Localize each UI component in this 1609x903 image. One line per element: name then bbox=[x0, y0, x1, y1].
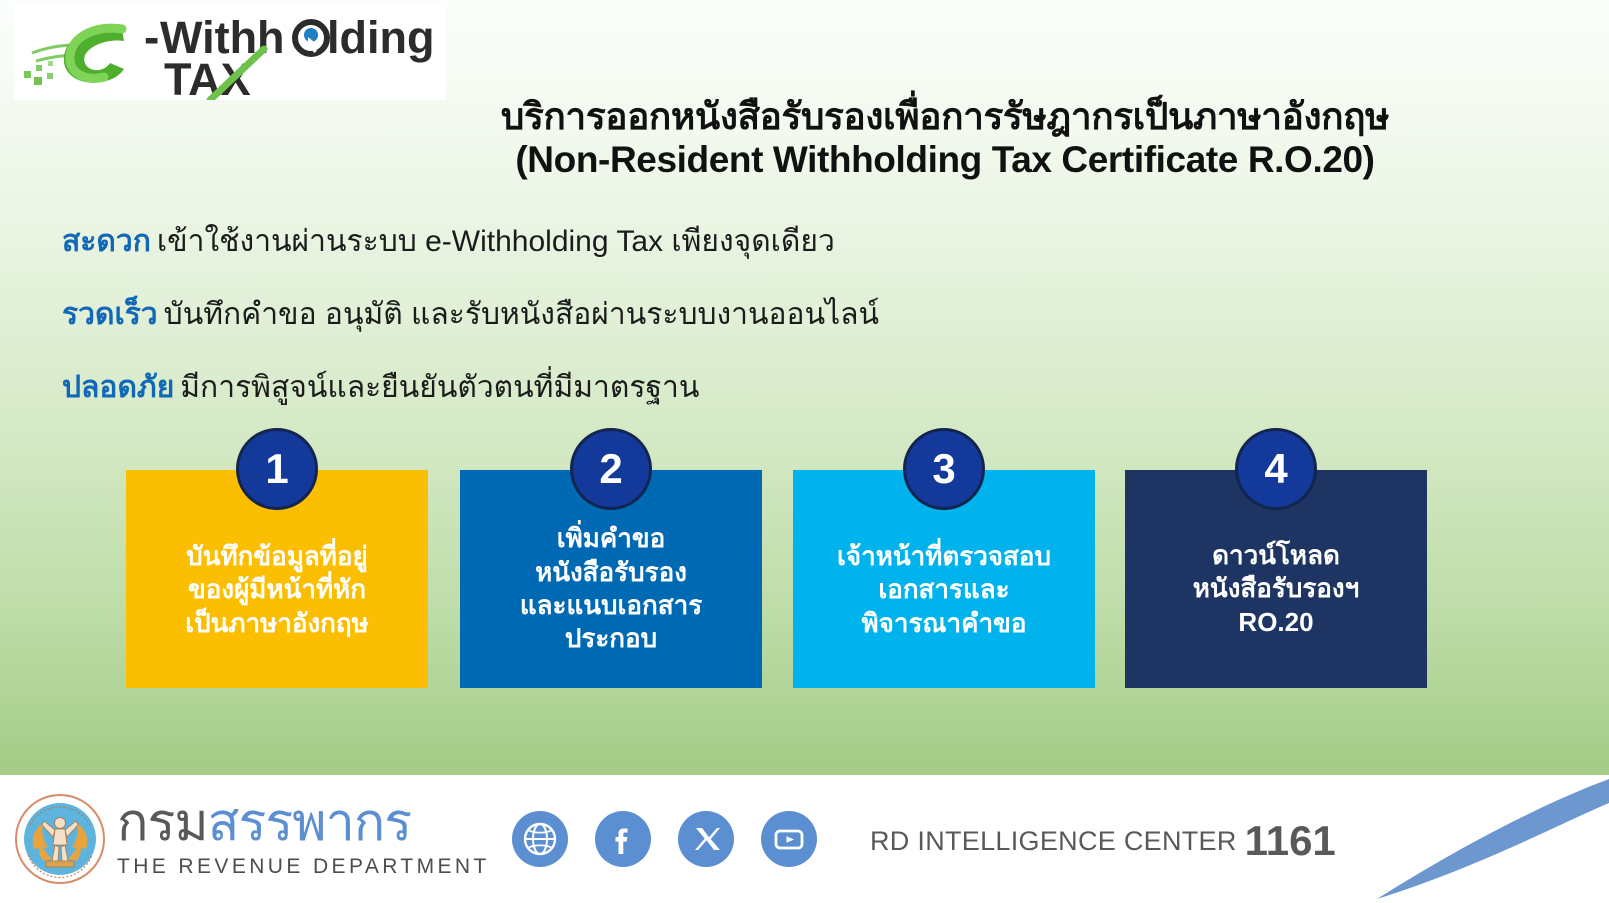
step-text-1: บันทึกข้อมูลที่อยู่ ของผู้มีหน้าที่หัก เ… bbox=[177, 540, 377, 640]
facebook-icon[interactable] bbox=[595, 811, 651, 867]
step-line: และแนบเอกสาร bbox=[520, 589, 702, 622]
revenue-department-wordmark: กรมสรรพากร THE REVENUE DEPARTMENT bbox=[117, 797, 490, 879]
rd-center-label: RD INTELLIGENCE CENTER bbox=[870, 826, 1237, 856]
benefit-item-secure: ปลอดภัยมีการพิสูจน์และยืนยันตัวตนที่มีมา… bbox=[62, 364, 1262, 411]
step-line: หนังสือรับรอง bbox=[520, 556, 702, 589]
step-text-2: เพิ่มคำขอ หนังสือรับรอง และแนบเอกสาร ประ… bbox=[512, 522, 710, 655]
benefit-keyword: สะดวก bbox=[62, 225, 151, 258]
step-line: ดาวน์โหลด bbox=[1193, 539, 1359, 572]
step-line: ประกอบ bbox=[520, 622, 702, 655]
step-line: เพิ่มคำขอ bbox=[520, 522, 702, 555]
footer-bar: กรมสรรพากร THE REVENUE DEPARTMENT bbox=[0, 775, 1609, 903]
swoosh-decoration-icon bbox=[1329, 775, 1609, 903]
step-number-badge-1: 1 bbox=[236, 428, 318, 510]
step-card-4: 4 ดาวน์โหลด หนังสือรับรองฯ RO.20 bbox=[1125, 470, 1427, 688]
step-number-badge-4: 4 bbox=[1235, 428, 1317, 510]
step-text-4: ดาวน์โหลด หนังสือรับรองฯ RO.20 bbox=[1185, 539, 1367, 639]
rd-center-number: 1161 bbox=[1245, 817, 1336, 864]
step-line: พิจารณาคำขอ bbox=[837, 607, 1051, 640]
step-card-3: 3 เจ้าหน้าที่ตรวจสอบ เอกสารและ พิจารณาคำ… bbox=[793, 470, 1095, 688]
benefit-item-fast: รวดเร็วบันทึกคำขอ อนุมัติ และรับหนังสือผ… bbox=[62, 291, 1262, 338]
step-text-3: เจ้าหน้าที่ตรวจสอบ เอกสารและ พิจารณาคำขอ bbox=[829, 540, 1059, 640]
benefit-list: สะดวกเข้าใช้งานผ่านระบบ e-Withholding Ta… bbox=[62, 218, 1262, 437]
ewht-logo-svg: - Withh lding TAX bbox=[14, 5, 446, 100]
step-line: RO.20 bbox=[1193, 606, 1359, 639]
step-card-1: 1 บันทึกข้อมูลที่อยู่ ของผู้มีหน้าที่หัก… bbox=[126, 470, 428, 688]
step-line: เอกสารและ bbox=[837, 573, 1051, 606]
svg-text:lding: lding bbox=[327, 12, 434, 63]
step-line: บันทึกข้อมูลที่อยู่ bbox=[185, 540, 369, 573]
benefit-description: เข้าใช้งานผ่านระบบ e-Withholding Tax เพี… bbox=[157, 225, 835, 258]
social-links bbox=[512, 811, 817, 867]
x-twitter-icon[interactable] bbox=[678, 811, 734, 867]
poster-root: - Withh lding TAX บริการออกหนังสือรับรอง… bbox=[0, 0, 1609, 903]
page-title-thai: บริการออกหนังสือรับรองเพื่อการรัษฎากรเป็… bbox=[300, 96, 1590, 139]
organization-name-thai: กรมสรรพากร bbox=[117, 797, 490, 849]
benefit-keyword: รวดเร็ว bbox=[62, 298, 158, 331]
globe-icon-svg bbox=[521, 820, 559, 858]
benefit-description: มีการพิสูจน์และยืนยันตัวตนที่มีมาตรฐาน bbox=[180, 371, 699, 404]
youtube-icon[interactable] bbox=[761, 811, 817, 867]
facebook-icon-svg bbox=[604, 820, 642, 858]
org-name-thai-suffix: สรรพากร bbox=[208, 794, 412, 852]
page-title: บริการออกหนังสือรับรองเพื่อการรัษฎากรเป็… bbox=[300, 96, 1590, 182]
step-number-badge-3: 3 bbox=[903, 428, 985, 510]
rd-intelligence-center: RD INTELLIGENCE CENTER1161 bbox=[870, 817, 1336, 865]
benefit-description: บันทึกคำขอ อนุมัติ และรับหนังสือผ่านระบบ… bbox=[164, 298, 879, 331]
ewht-logo: - Withh lding TAX bbox=[14, 5, 446, 100]
organization-name-english: THE REVENUE DEPARTMENT bbox=[117, 855, 490, 879]
x-twitter-icon-svg bbox=[689, 822, 723, 856]
revenue-department-seal-icon bbox=[14, 793, 106, 885]
benefit-keyword: ปลอดภัย bbox=[62, 371, 174, 404]
page-title-english: (Non-Resident Withholding Tax Certificat… bbox=[300, 139, 1590, 182]
process-steps: 1 บันทึกข้อมูลที่อยู่ ของผู้มีหน้าที่หัก… bbox=[126, 428, 1426, 688]
step-line: ของผู้มีหน้าที่หัก bbox=[185, 573, 369, 606]
step-line: เจ้าหน้าที่ตรวจสอบ bbox=[837, 540, 1051, 573]
globe-icon[interactable] bbox=[512, 811, 568, 867]
org-name-thai-prefix: กรม bbox=[117, 794, 208, 852]
step-number-badge-2: 2 bbox=[570, 428, 652, 510]
svg-text:-: - bbox=[144, 11, 159, 63]
step-line: หนังสือรับรองฯ bbox=[1193, 572, 1359, 605]
benefit-item-convenient: สะดวกเข้าใช้งานผ่านระบบ e-Withholding Ta… bbox=[62, 218, 1262, 265]
youtube-icon-svg bbox=[769, 819, 809, 859]
step-card-2: 2 เพิ่มคำขอ หนังสือรับรอง และแนบเอกสาร ป… bbox=[460, 470, 762, 688]
step-line: เป็นภาษาอังกฤษ bbox=[185, 607, 369, 640]
